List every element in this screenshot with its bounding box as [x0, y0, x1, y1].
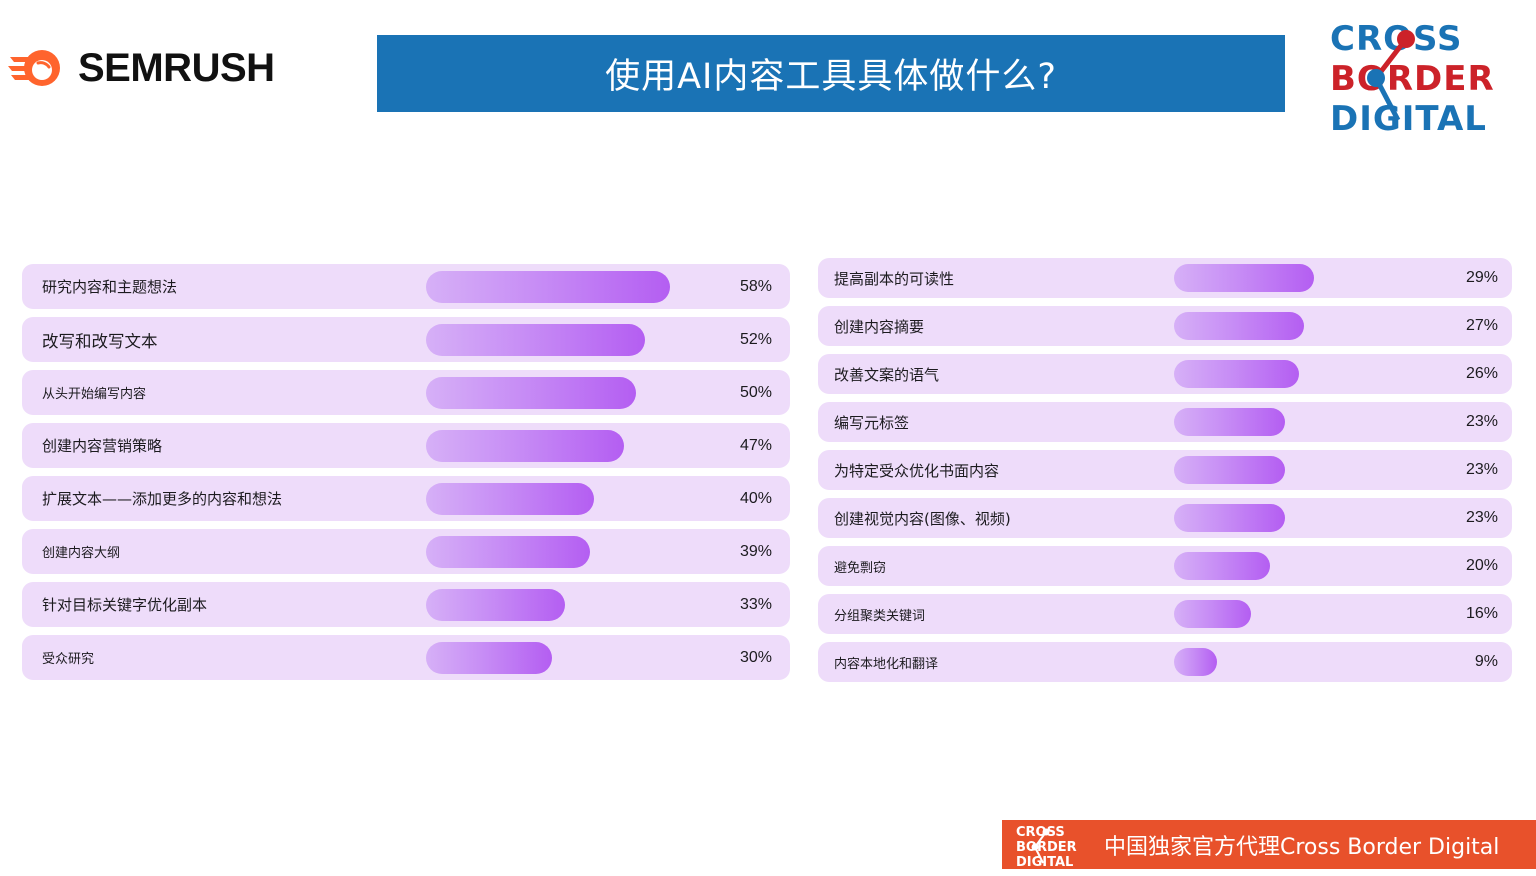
bar-track [426, 423, 695, 468]
chart-panel-right: 提高副本的可读性29%创建内容摘要27%改善文案的语气26%编写元标签23%为特… [818, 258, 1512, 690]
bar-row: 分组聚类关键词16% [818, 594, 1512, 634]
bar-track [1174, 450, 1420, 490]
bar-row-label: 为特定受众优化书面内容 [834, 460, 999, 481]
bar-value-label: 9% [1475, 653, 1498, 671]
chart-panel-left: 研究内容和主题想法58%改写和改写文本52%从头开始编写内容50%创建内容营销策… [22, 264, 790, 688]
bar-row-label: 研究内容和主题想法 [42, 276, 177, 297]
bar-row-label: 编写元标签 [834, 412, 909, 433]
bar-track [1174, 402, 1420, 442]
bar-value-label: 27% [1466, 317, 1498, 335]
chart-area: 研究内容和主题想法58%改写和改写文本52%从头开始编写内容50%创建内容营销策… [0, 0, 1536, 876]
bar-row-label: 改写和改写文本 [42, 328, 158, 352]
bar-value-label: 50% [740, 384, 772, 402]
bar-row: 为特定受众优化书面内容23% [818, 450, 1512, 490]
bar-fill [426, 642, 552, 674]
bar-track [1174, 546, 1420, 586]
bar-track [1174, 498, 1420, 538]
bar-row: 创建内容大纲39% [22, 529, 790, 574]
bar-fill [426, 589, 565, 621]
bar-value-label: 26% [1466, 365, 1498, 383]
bar-track [426, 476, 695, 521]
bar-row-label: 受众研究 [42, 648, 94, 667]
bar-row-label: 扩展文本——添加更多的内容和想法 [42, 488, 282, 509]
bar-value-label: 58% [740, 278, 772, 296]
bar-value-label: 29% [1466, 269, 1498, 287]
bar-row-label: 针对目标关键字优化副本 [42, 594, 207, 615]
bar-track [426, 264, 695, 309]
bar-track [1174, 306, 1420, 346]
bar-row-label: 改善文案的语气 [834, 364, 939, 385]
bar-track [1174, 594, 1420, 634]
bar-value-label: 23% [1466, 509, 1498, 527]
svg-text:BORDER: BORDER [1016, 840, 1077, 855]
bar-track [426, 529, 695, 574]
bar-row-label: 从头开始编写内容 [42, 383, 146, 402]
bar-value-label: 52% [740, 331, 772, 349]
bar-row: 改写和改写文本52% [22, 317, 790, 362]
bar-track [426, 635, 695, 680]
bar-fill [1174, 408, 1285, 436]
bar-track [426, 317, 695, 362]
footer-agency-text: 中国独家官方代理Cross Border Digital [1104, 829, 1499, 861]
bar-fill [426, 483, 594, 515]
bar-fill [1174, 264, 1314, 292]
bar-row-label: 提高副本的可读性 [834, 268, 954, 289]
bar-row-label: 内容本地化和翻译 [834, 653, 938, 672]
bar-row: 避免剽窃20% [818, 546, 1512, 586]
bar-fill [1174, 360, 1299, 388]
bar-value-label: 23% [1466, 461, 1498, 479]
bar-row: 创建内容摘要27% [818, 306, 1512, 346]
bar-value-label: 30% [740, 649, 772, 667]
bar-row: 创建内容营销策略47% [22, 423, 790, 468]
bar-fill [426, 430, 624, 462]
bar-fill [1174, 456, 1285, 484]
bar-track [1174, 354, 1420, 394]
bar-value-label: 40% [740, 490, 772, 508]
bar-fill [1174, 504, 1285, 532]
bar-row-label: 创建视觉内容(图像、视频) [834, 508, 1011, 529]
bar-row: 编写元标签23% [818, 402, 1512, 442]
footer-cbd-logo-icon: CROSS BORDER DIGITAL [1014, 822, 1088, 868]
bar-row: 提高副本的可读性29% [818, 258, 1512, 298]
footer-banner: CROSS BORDER DIGITAL 中国独家官方代理Cross Borde… [1002, 820, 1536, 869]
bar-value-label: 23% [1466, 413, 1498, 431]
bar-fill [1174, 648, 1217, 676]
bar-fill [426, 536, 590, 568]
bar-value-label: 47% [740, 437, 772, 455]
bar-track [426, 582, 695, 627]
bar-value-label: 39% [740, 543, 772, 561]
bar-track [1174, 258, 1420, 298]
bar-row: 从头开始编写内容50% [22, 370, 790, 415]
bar-row: 针对目标关键字优化副本33% [22, 582, 790, 627]
bar-fill [426, 377, 636, 409]
bar-track [426, 370, 695, 415]
bar-fill [1174, 600, 1251, 628]
bar-value-label: 20% [1466, 557, 1498, 575]
bar-row: 扩展文本——添加更多的内容和想法40% [22, 476, 790, 521]
svg-text:CROSS: CROSS [1016, 825, 1065, 840]
bar-row: 创建视觉内容(图像、视频)23% [818, 498, 1512, 538]
bar-fill [1174, 312, 1304, 340]
bar-row-label: 分组聚类关键词 [834, 605, 925, 624]
bar-row-label: 创建内容营销策略 [42, 435, 162, 456]
svg-text:DIGITAL: DIGITAL [1016, 855, 1073, 868]
bar-value-label: 16% [1466, 605, 1498, 623]
bar-fill [426, 324, 645, 356]
bar-row: 研究内容和主题想法58% [22, 264, 790, 309]
bar-row-label: 创建内容大纲 [42, 542, 120, 561]
bar-row: 改善文案的语气26% [818, 354, 1512, 394]
bar-row-label: 避免剽窃 [834, 557, 886, 576]
bar-row: 受众研究30% [22, 635, 790, 680]
bar-fill [426, 271, 670, 303]
bar-fill [1174, 552, 1270, 580]
bar-value-label: 33% [740, 596, 772, 614]
bar-row-label: 创建内容摘要 [834, 316, 924, 337]
bar-row: 内容本地化和翻译9% [818, 642, 1512, 682]
bar-track [1174, 642, 1420, 682]
